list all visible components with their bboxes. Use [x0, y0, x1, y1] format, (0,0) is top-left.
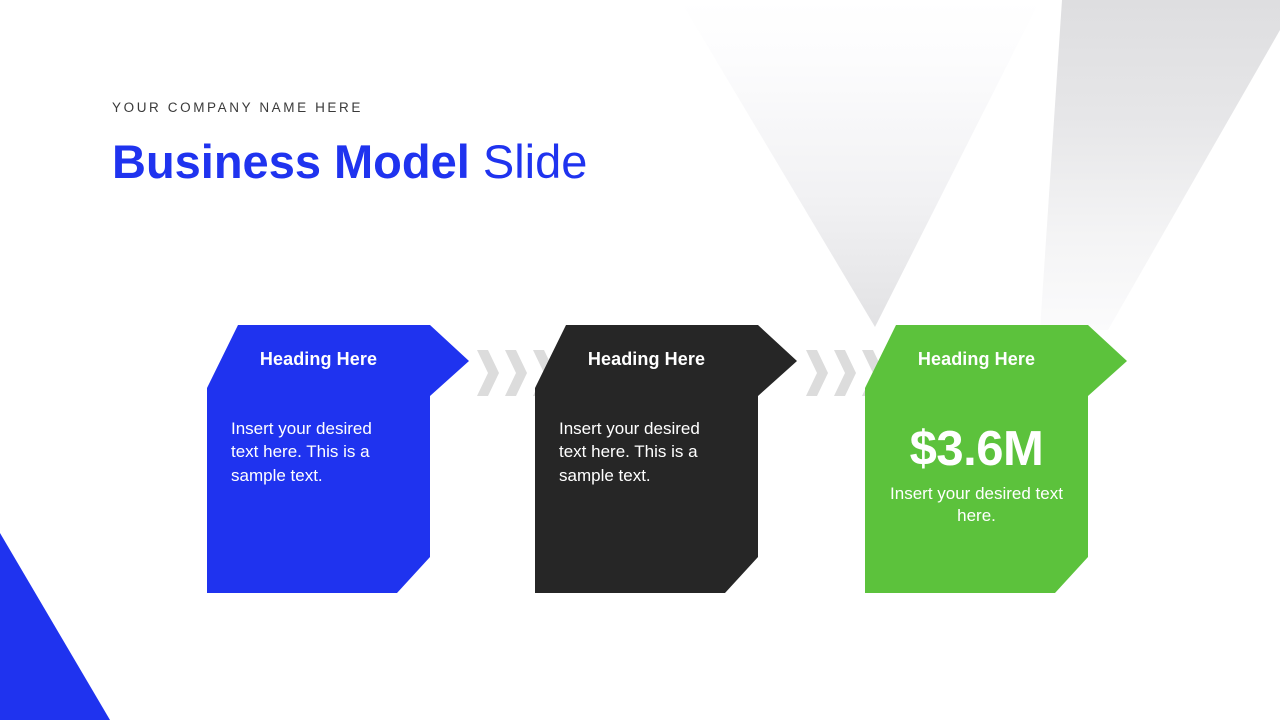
- card-2-body: Insert your desired text here. This is a…: [559, 417, 731, 487]
- card-3-metric-value: $3.6M: [865, 421, 1088, 477]
- card-1-body: Insert your desired text here. This is a…: [231, 417, 403, 487]
- business-model-cards: Heading Here Insert your desired text he…: [0, 325, 1280, 600]
- chevron-right-icon: [505, 350, 527, 396]
- chevron-right-icon: [834, 350, 856, 396]
- chevron-right-icon: [477, 350, 499, 396]
- card-3-subtext: Insert your desired text here.: [879, 483, 1074, 528]
- funnel-triangle-decoration: [640, 0, 1040, 327]
- funnel-band-decoration: [1040, 0, 1280, 330]
- card-3-heading: Heading Here: [865, 349, 1088, 370]
- card-2[interactable]: Heading Here Insert your desired text he…: [535, 325, 797, 593]
- page-title-light: Slide: [483, 135, 588, 188]
- company-name-eyebrow: YOUR COMPANY NAME HERE: [112, 100, 587, 115]
- slide-header: YOUR COMPANY NAME HERE Business Model Sl…: [112, 100, 587, 188]
- page-title-strong: Business Model: [112, 135, 470, 188]
- card-1[interactable]: Heading Here Insert your desired text he…: [207, 325, 469, 593]
- page-title: Business Model Slide: [112, 137, 587, 188]
- chevron-right-icon: [806, 350, 828, 396]
- card-2-heading: Heading Here: [535, 349, 758, 370]
- card-3[interactable]: Heading Here $3.6M Insert your desired t…: [865, 325, 1127, 593]
- slide-canvas: YOUR COMPANY NAME HERE Business Model Sl…: [0, 0, 1280, 720]
- card-1-heading: Heading Here: [207, 349, 430, 370]
